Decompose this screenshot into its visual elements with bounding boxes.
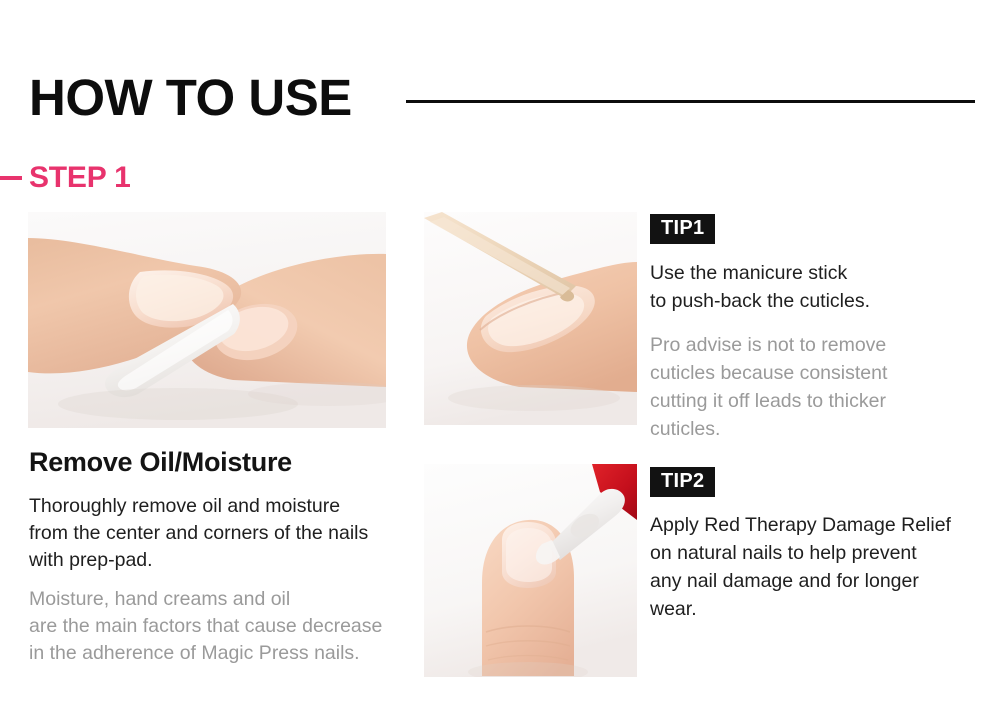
tip1-paragraph-sub-line-4: cuticles. — [650, 415, 980, 443]
tip1-paragraph-sub-line-3: cutting it off leads to thicker — [650, 387, 980, 415]
tip1-badge: TIP1 — [650, 214, 715, 244]
left-paragraph-main-line-1: Thoroughly remove oil and moisture — [29, 493, 429, 520]
left-paragraph-main-line-3: with prep-pad. — [29, 547, 429, 574]
step-label-group: STEP 1 — [0, 160, 131, 196]
page-title: HOW TO USE — [29, 68, 352, 128]
dash-icon — [0, 176, 22, 180]
left-paragraph-main: Thoroughly remove oil and moisture from … — [29, 493, 429, 574]
tip1-paragraph-main: Use the manicure stick to push-back the … — [650, 259, 980, 315]
tip1-paragraph-main-line-1: Use the manicure stick — [650, 259, 980, 287]
left-paragraph-sub-line-1: Moisture, hand creams and oil — [29, 586, 429, 613]
photo-prep-pad-on-nail — [28, 212, 386, 428]
header-divider-rule — [406, 100, 975, 103]
tip2-paragraph-main-line-4: wear. — [650, 595, 990, 623]
red-therapy-illustration — [424, 464, 637, 677]
prep-pad-illustration — [28, 212, 386, 428]
tip1-paragraph-sub-line-1: Pro advise is not to remove — [650, 331, 980, 359]
left-paragraph-sub: Moisture, hand creams and oil are the ma… — [29, 586, 429, 667]
tip2-badge: TIP2 — [650, 467, 715, 497]
tip1-paragraph-sub: Pro advise is not to remove cuticles bec… — [650, 331, 980, 443]
tip2-paragraph-main-line-2: on natural nails to help prevent — [650, 539, 990, 567]
left-paragraph-sub-line-3: in the adherence of Magic Press nails. — [29, 640, 429, 667]
step-label: STEP 1 — [29, 161, 131, 195]
manicure-stick-illustration — [424, 212, 637, 425]
tip2-paragraph-main-line-3: any nail damage and for longer — [650, 567, 990, 595]
tip1-paragraph-sub-line-2: cuticles because consistent — [650, 359, 980, 387]
tip2-badge-wrapper: TIP2 — [650, 467, 715, 497]
photo-red-therapy-brush — [424, 464, 637, 677]
tip2-paragraph-main: Apply Red Therapy Damage Relief on natur… — [650, 511, 990, 623]
tip2-paragraph-main-line-1: Apply Red Therapy Damage Relief — [650, 511, 990, 539]
photo-manicure-stick-cuticle — [424, 212, 637, 425]
section-heading-remove-oil-moisture: Remove Oil/Moisture — [29, 447, 292, 478]
left-paragraph-main-line-2: from the center and corners of the nails — [29, 520, 429, 547]
tip1-badge-wrapper: TIP1 — [650, 214, 715, 244]
tip1-paragraph-main-line-2: to push-back the cuticles. — [650, 287, 980, 315]
left-paragraph-sub-line-2: are the main factors that cause decrease — [29, 613, 429, 640]
